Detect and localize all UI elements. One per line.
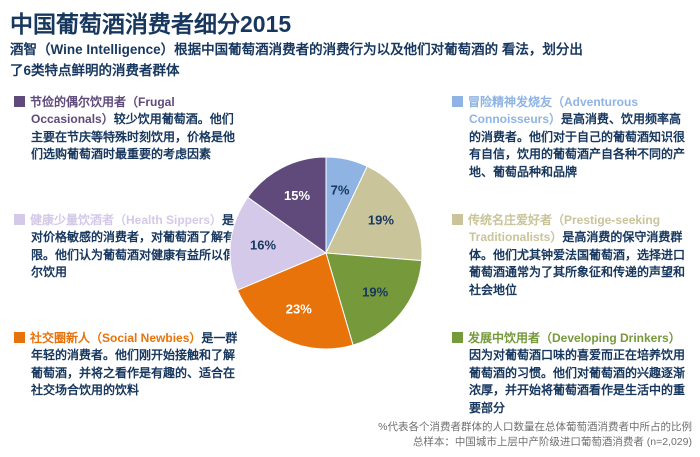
pie-slice-label: 7%: [331, 183, 350, 198]
segment-heading: 发展中饮用者（Developing Drinkers）: [468, 331, 681, 345]
segment-social-newbies: 社交圈新人（Social Newbies）是一群年轻的消费者。他们刚开始接触和了…: [14, 330, 242, 400]
color-swatch-icon: [452, 332, 463, 343]
pie-slice-label: 16%: [250, 237, 276, 252]
subtitle-line-1: 酒智（Wine Intelligence）根据中国葡萄酒消费者的消费行为以及他们…: [10, 42, 498, 57]
segment-body: 因为对葡萄酒口味的喜爱而正在培养饮用葡萄酒的习惯。他们对葡萄酒的兴趣逐渐浓厚，并…: [469, 348, 685, 414]
pie-slice-label: 15%: [284, 188, 310, 203]
footnote-line-1: %代表各个消费者群体的人口数量在总体葡萄酒消费者中所占的比例: [378, 420, 692, 436]
segment-health-sippers: 健康少量饮酒者（Health Sippers）是对价格敏感的消费者，对葡萄酒了解…: [14, 212, 242, 282]
page-title: 中国葡萄酒消费者细分2015: [10, 5, 291, 39]
color-swatch-icon: [452, 96, 463, 107]
color-swatch-icon: [452, 214, 463, 225]
chart-footnote: %代表各个消费者群体的人口数量在总体葡萄酒消费者中所占的比例 总样本：中国城市上…: [378, 420, 692, 452]
consumer-segment-pie-chart: 7%19%19%23%16%15%: [228, 155, 424, 351]
infographic-page: 中国葡萄酒消费者细分2015 酒智（Wine Intelligence）根据中国…: [0, 0, 700, 457]
color-swatch-icon: [14, 332, 25, 343]
segment-adventurous-connoisseurs: 冒险精神发烧友（Adventurous Connoisseurs）是高消费、饮用…: [452, 94, 692, 181]
segment-frugal-occasionals: 节俭的偶尔饮用者（Frugal Occasionals）较少饮用葡萄酒。他们主要…: [14, 94, 242, 164]
segment-heading: 健康少量饮酒者（Health Sippers）: [30, 213, 222, 227]
segment-developing-drinkers: 发展中饮用者（Developing Drinkers）因为对葡萄酒口味的喜爱而正…: [452, 330, 692, 417]
footnote-line-2: 总样本：中国城市上层中产阶级进口葡萄酒消费者 (n=2,029): [378, 435, 692, 451]
pie-slice-label: 19%: [368, 213, 394, 228]
color-swatch-icon: [14, 214, 25, 225]
color-swatch-icon: [14, 96, 25, 107]
pie-slice-label: 23%: [286, 302, 312, 317]
pie-slice-label: 19%: [362, 284, 388, 299]
pie-chart-svg: 7%19%19%23%16%15%: [228, 155, 424, 351]
page-subtitle: 酒智（Wine Intelligence）根据中国葡萄酒消费者的消费行为以及他们…: [10, 40, 590, 82]
segment-heading: 社交圈新人（Social Newbies）: [30, 331, 201, 345]
segment-prestige-seeking-traditionalists: 传统名庄爱好者（Prestige-seeking Traditionalists…: [452, 212, 692, 299]
